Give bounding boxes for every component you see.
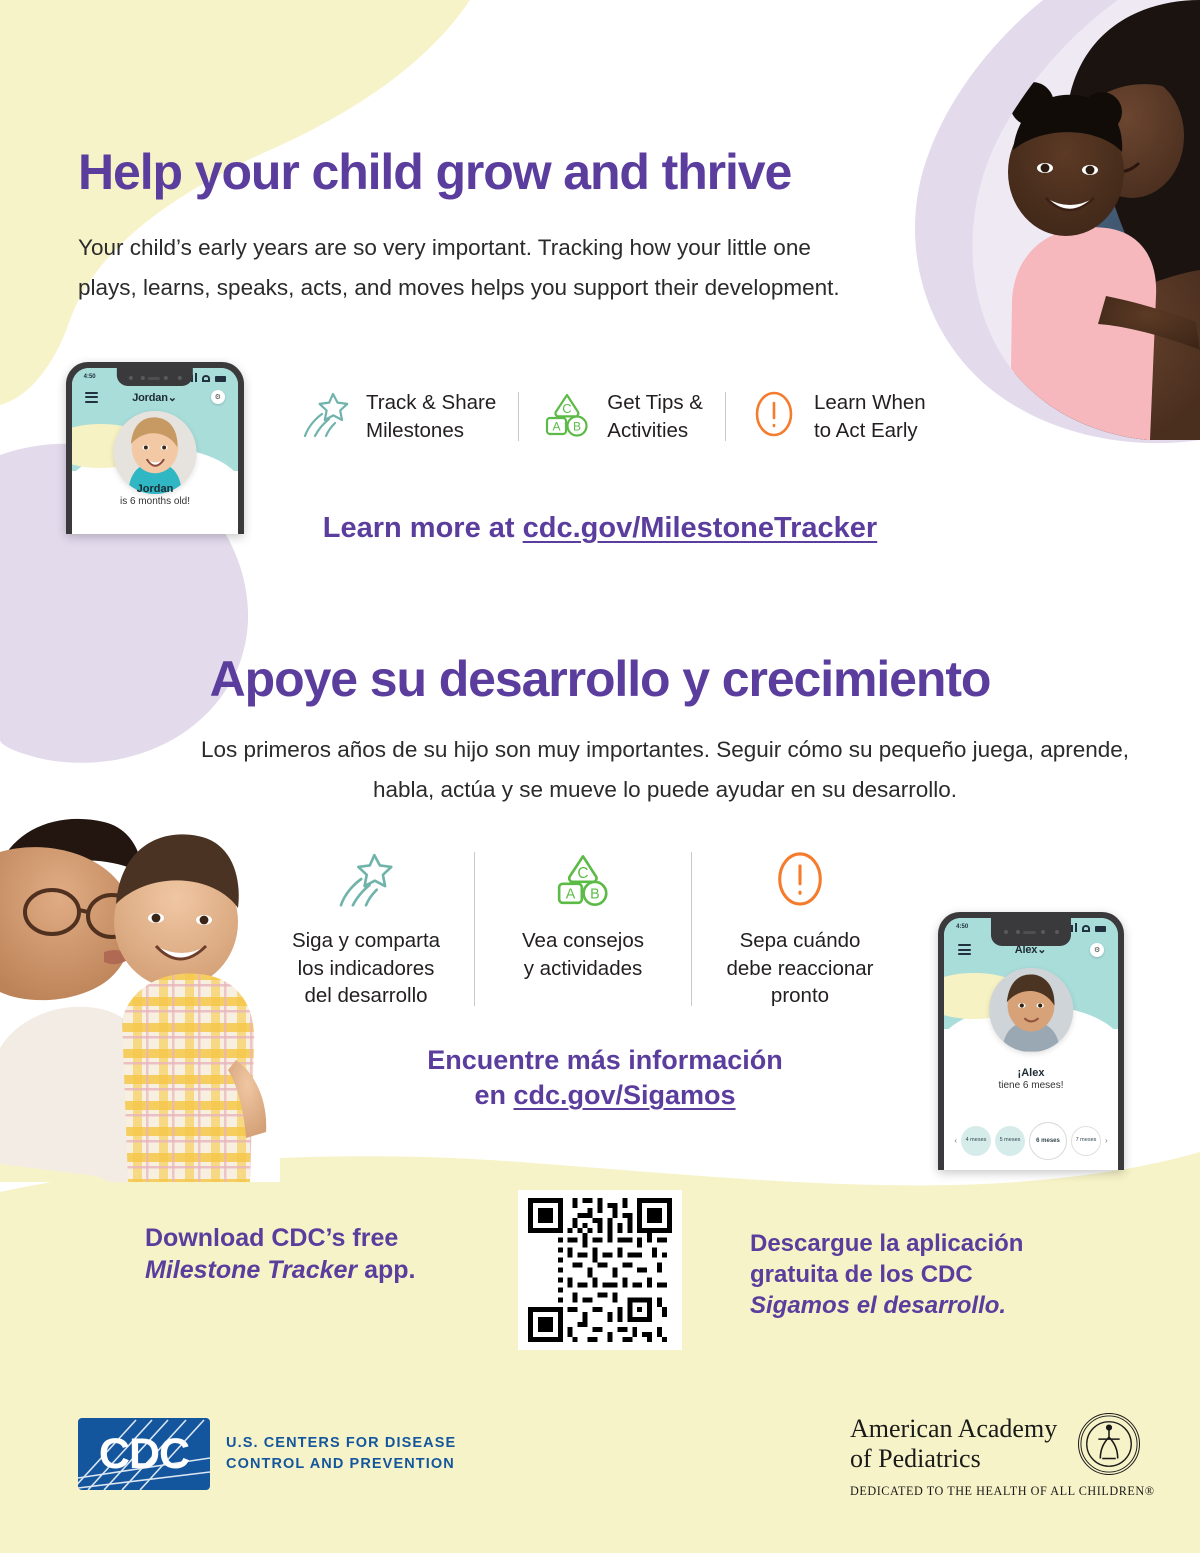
feature-vea-consejos: C A B Vea consejos y actividades xyxy=(475,848,691,1010)
month-chip[interactable]: 7 meses xyxy=(1071,1126,1101,1156)
phone-month-chips: ‹ 4 meses 5 meses 6 meses 7 meses › xyxy=(944,1122,1118,1160)
phone-caption: Jordan is 6 months old! xyxy=(72,483,238,507)
aap-seal-icon xyxy=(1078,1413,1140,1475)
spanish-cta[interactable]: Encuentre más información en cdc.gov/Sig… xyxy=(280,1043,930,1113)
cdc-mark-text: CDC xyxy=(78,1418,210,1490)
feature-label: Track & Share Milestones xyxy=(366,389,496,443)
aap-tagline: DEDICATED TO THE HEALTH OF ALL CHILDREN® xyxy=(850,1484,1140,1499)
qr-code[interactable] xyxy=(518,1190,682,1350)
phone-caption: ¡Alex tiene 6 meses! xyxy=(944,1067,1118,1091)
aap-name: American Academy of Pediatrics xyxy=(850,1414,1057,1474)
feature-siga-comparta: Siga y comparta los indicadores del desa… xyxy=(258,848,474,1010)
cdc-logo-wordmark: U.S. CENTERS FOR DISEASE CONTROL AND PRE… xyxy=(226,1433,456,1475)
english-body-text: Your child’s early years are so very imp… xyxy=(78,228,868,308)
download-line-1: Download CDC’s free xyxy=(145,1224,398,1252)
chevron-down-icon: ⌄ xyxy=(1037,944,1046,956)
cdc-logo-mark: CDC xyxy=(78,1418,210,1490)
exclamation-circle-icon xyxy=(769,848,831,915)
app-name-italic: Milestone Tracker xyxy=(145,1256,357,1284)
chip-prev-arrow[interactable]: ‹ xyxy=(954,1136,957,1145)
phone-child-avatar xyxy=(989,968,1073,1052)
svg-text:B: B xyxy=(590,887,600,903)
qr-code-image xyxy=(526,1198,674,1342)
phone-notch xyxy=(991,918,1071,946)
feature-sepa-cuando: Sepa cuándo debe reaccionar pronto xyxy=(692,848,908,1010)
month-chip[interactable]: 4 meses xyxy=(961,1126,991,1156)
cta-prefix: Learn more at xyxy=(323,512,523,544)
abc-blocks-icon: C A B xyxy=(552,848,614,915)
photo-mother-and-toddler xyxy=(870,0,1200,440)
phone-child-selector[interactable]: Jordan⌄ xyxy=(132,391,177,404)
feature-label: Learn When to Act Early xyxy=(814,389,926,443)
phone-notch xyxy=(117,368,193,386)
phone-time: 4:50 xyxy=(956,924,968,930)
feature-label: Sepa cuándo debe reaccionar pronto xyxy=(726,927,873,1010)
month-chip[interactable]: 5 meses xyxy=(995,1126,1025,1156)
svg-text:B: B xyxy=(573,420,581,434)
phone-mockup-spanish: 4:50 Alex⌄ ⚙ xyxy=(938,912,1124,1170)
download-text-english: Download CDC’s free Milestone Tracker ap… xyxy=(145,1222,475,1286)
cta-line-1: Encuentre más información xyxy=(280,1043,930,1078)
download-es-line-2: gratuita de los CDC xyxy=(750,1261,973,1288)
aap-name-line-2: of Pediatrics xyxy=(850,1444,1057,1474)
feature-learn-when-to-act-early: Learn When to Act Early xyxy=(726,388,948,445)
download-es-line-1: Descargue la aplicación xyxy=(750,1230,1023,1257)
download-text-spanish: Descargue la aplicación gratuita de los … xyxy=(750,1228,1090,1322)
poster-page: Help your child grow and thrive Your chi… xyxy=(0,0,1200,1553)
feature-track-share-milestones: Track & Share Milestones xyxy=(300,388,518,445)
svg-text:A: A xyxy=(553,420,561,434)
shooting-star-icon xyxy=(300,388,352,445)
month-chip-selected[interactable]: 6 meses xyxy=(1029,1122,1067,1160)
cta-link-milestonetracker[interactable]: cdc.gov/MilestoneTracker xyxy=(523,512,878,544)
download-suffix: app. xyxy=(357,1256,415,1284)
phone-caption-name: ¡Alex xyxy=(944,1067,1118,1079)
english-heading: Help your child grow and thrive xyxy=(78,146,791,199)
exclamation-circle-icon xyxy=(748,388,800,445)
svg-text:A: A xyxy=(566,887,576,903)
cta-link-sigamos[interactable]: cdc.gov/Sigamos xyxy=(513,1080,735,1110)
cta-line-2: en cdc.gov/Sigamos xyxy=(280,1078,930,1113)
english-feature-row: Track & Share Milestones C A B Get Tips … xyxy=(300,388,1040,445)
gear-icon[interactable]: ⚙ xyxy=(1090,943,1104,957)
cta-prefix: en xyxy=(474,1080,513,1110)
gear-icon[interactable]: ⚙ xyxy=(211,390,225,404)
yellow-blob-top-left xyxy=(0,0,470,405)
shooting-star-icon xyxy=(335,848,397,915)
feature-label: Get Tips & Activities xyxy=(607,389,703,443)
feature-get-tips-activities: C A B Get Tips & Activities xyxy=(519,388,725,445)
hamburger-menu-icon[interactable] xyxy=(85,390,98,406)
svg-text:C: C xyxy=(577,865,588,882)
feature-label: Vea consejos y actividades xyxy=(522,927,644,982)
aap-name-line-1: American Academy xyxy=(850,1414,1057,1444)
phone-time: 4:50 xyxy=(84,374,96,380)
aap-logo: American Academy of Pediatrics DEDICATED… xyxy=(850,1413,1140,1499)
abc-blocks-icon: C A B xyxy=(541,388,593,445)
phone-mockup-english: 4:50 Jordan⌄ ⚙ xyxy=(66,362,244,534)
app-name-italic-es: Sigamos el desarrollo. xyxy=(750,1290,1090,1321)
spanish-body-text: Los primeros años de su hijo son muy imp… xyxy=(200,730,1130,810)
spanish-heading: Apoye su desarrollo y crecimiento xyxy=(0,650,1200,708)
hamburger-menu-icon[interactable] xyxy=(958,942,971,958)
chevron-down-icon: ⌄ xyxy=(168,392,177,404)
phone-caption-age: tiene 6 meses! xyxy=(944,1080,1118,1091)
chip-next-arrow[interactable]: › xyxy=(1105,1136,1108,1145)
cdc-wordmark-line-2: CONTROL AND PREVENTION xyxy=(226,1454,456,1475)
english-cta[interactable]: Learn more at cdc.gov/MilestoneTracker xyxy=(0,512,1200,545)
feature-label: Siga y comparta los indicadores del desa… xyxy=(292,927,440,1010)
spanish-feature-row: Siga y comparta los indicadores del desa… xyxy=(258,848,908,1010)
photo-father-and-baby xyxy=(0,812,280,1182)
cdc-wordmark-line-1: U.S. CENTERS FOR DISEASE xyxy=(226,1433,456,1454)
phone-nav-bar: Jordan⌄ ⚙ xyxy=(72,390,238,406)
phone-caption-name: Jordan xyxy=(72,483,238,495)
svg-text:C: C xyxy=(563,401,572,416)
phone-caption-age: is 6 months old! xyxy=(72,496,238,507)
cdc-logo: CDC U.S. CENTERS FOR DISEASE CONTROL AND… xyxy=(78,1418,456,1490)
